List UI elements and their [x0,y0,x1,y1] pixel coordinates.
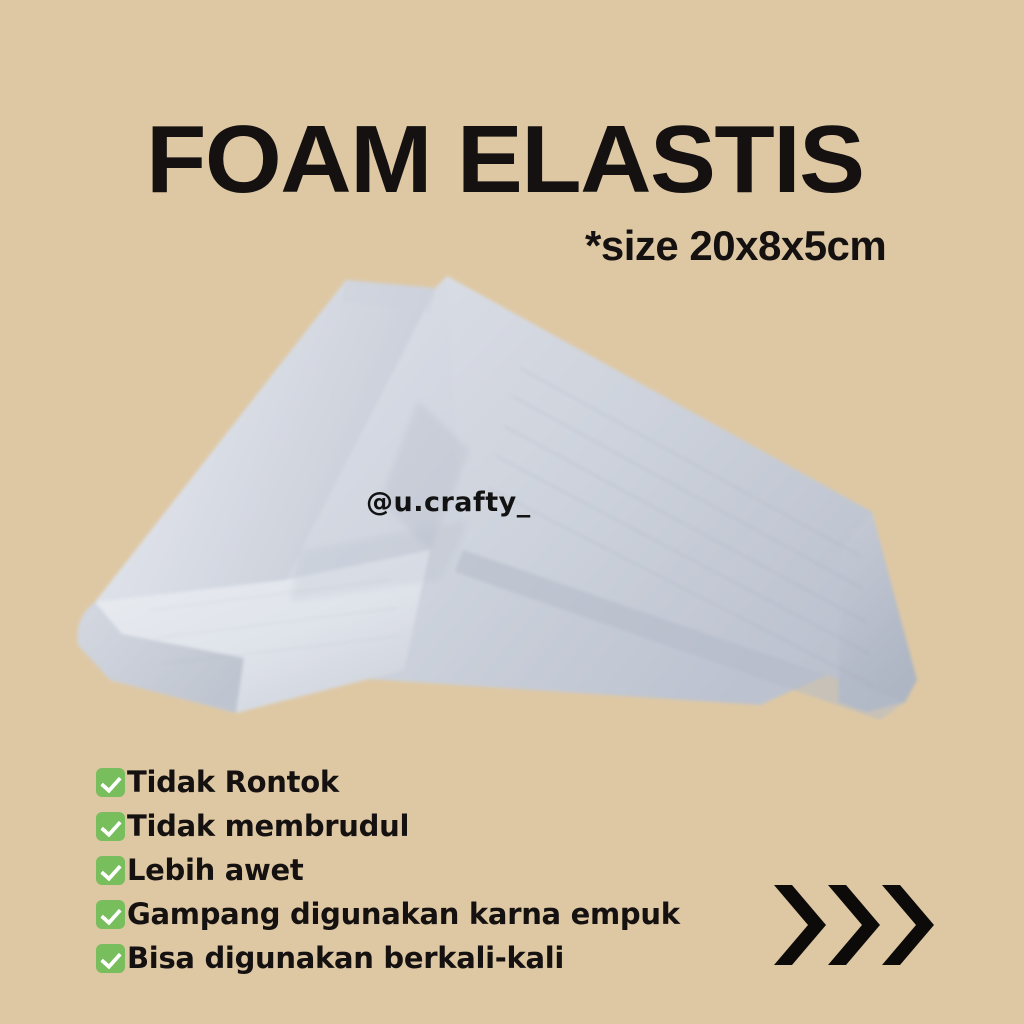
check-icon [96,900,125,929]
feature-label: Gampang digunakan karna empuk [127,900,680,929]
chevron-right-icon [774,885,826,965]
check-icon [96,768,125,797]
feature-label: Tidak membrudul [127,812,409,841]
page-title: FOAM ELASTIS [146,112,929,208]
list-item: Gampang digunakan karna empuk [96,892,796,936]
check-icon [96,856,125,885]
check-icon [96,812,125,841]
list-item: Bisa digunakan berkali-kali [96,936,796,980]
feature-label: Bisa digunakan berkali-kali [127,944,564,973]
feature-label: Tidak Rontok [127,768,339,797]
feature-label: Lebih awet [127,856,303,885]
chevron-right-icon [882,885,934,965]
chevron-right-icon-group [772,881,934,969]
list-item: Lebih awet [96,848,796,892]
check-icon [96,944,125,973]
list-item: Tidak membrudul [96,804,796,848]
watermark: @u.crafty_ [366,487,531,518]
feature-list: Tidak Rontok Tidak membrudul Lebih awet … [96,760,796,980]
list-item: Tidak Rontok [96,760,796,804]
product-poster: FOAM ELASTIS *size 20x8x5cm [0,0,1024,1024]
chevron-right-icon [828,885,880,965]
